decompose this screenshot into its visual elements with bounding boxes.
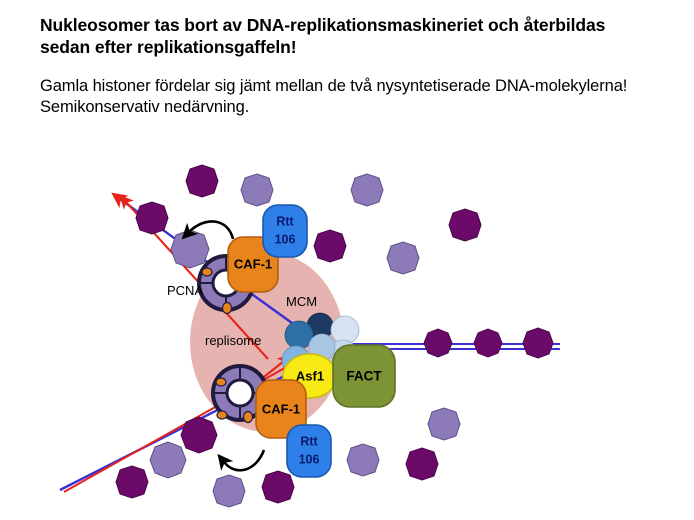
nucleosome-new	[351, 174, 383, 206]
rtt106-bottom: Rtt 106	[287, 425, 331, 477]
nucleosome-old	[406, 448, 438, 480]
nucleosome-old	[424, 329, 452, 357]
nucleosome-old	[314, 230, 346, 262]
mcm-label: MCM	[286, 294, 317, 309]
nucleosome-old	[523, 328, 553, 358]
rtt106-top-label-line1: Rtt	[276, 214, 294, 228]
parental-nucleosome-group	[424, 328, 553, 358]
replisome-label: replisome	[205, 333, 261, 348]
nucleosome-old	[181, 417, 217, 453]
nucleosome-old	[449, 209, 481, 241]
slide-canvas: Nukleosomer tas bort av DNA-replikations…	[0, 0, 694, 520]
nucleosome-new	[387, 242, 419, 274]
nucleosome-new	[150, 442, 186, 478]
nucleosome-new	[171, 230, 209, 268]
caf1-top-label: CAF-1	[234, 256, 272, 271]
asf1-label: Asf1	[296, 368, 324, 383]
nucleosome-new	[428, 408, 460, 440]
rtt106-bottom-label-line1: Rtt	[300, 434, 318, 448]
slide-subheading: Gamla histoner fördelar sig jämt mellan …	[40, 76, 650, 119]
nucleosome-old	[136, 202, 168, 234]
nucleosome-old	[474, 329, 502, 357]
nucleosome-new	[241, 174, 273, 206]
nucleosome-old	[262, 471, 294, 503]
pcna-label: PCNA	[167, 283, 203, 298]
rtt106-top-label-line2: 106	[275, 232, 296, 246]
rtt106-bottom-label-line2: 106	[299, 452, 320, 466]
rtt106-top: Rtt 106	[263, 205, 307, 257]
nucleosome-new	[347, 444, 379, 476]
slide-heading: Nukleosomer tas bort av DNA-replikations…	[40, 14, 650, 59]
fact-complex: FACT	[333, 345, 395, 407]
caf1-bottom-label: CAF-1	[262, 401, 300, 416]
nucleosome-old	[186, 165, 218, 197]
fact-label: FACT	[346, 369, 382, 384]
nucleosome-old	[116, 466, 148, 498]
deposition-arrow-bottom	[224, 450, 264, 470]
replication-fork-diagram: Asf1 FACT	[0, 140, 694, 520]
nucleosome-new	[213, 475, 245, 507]
